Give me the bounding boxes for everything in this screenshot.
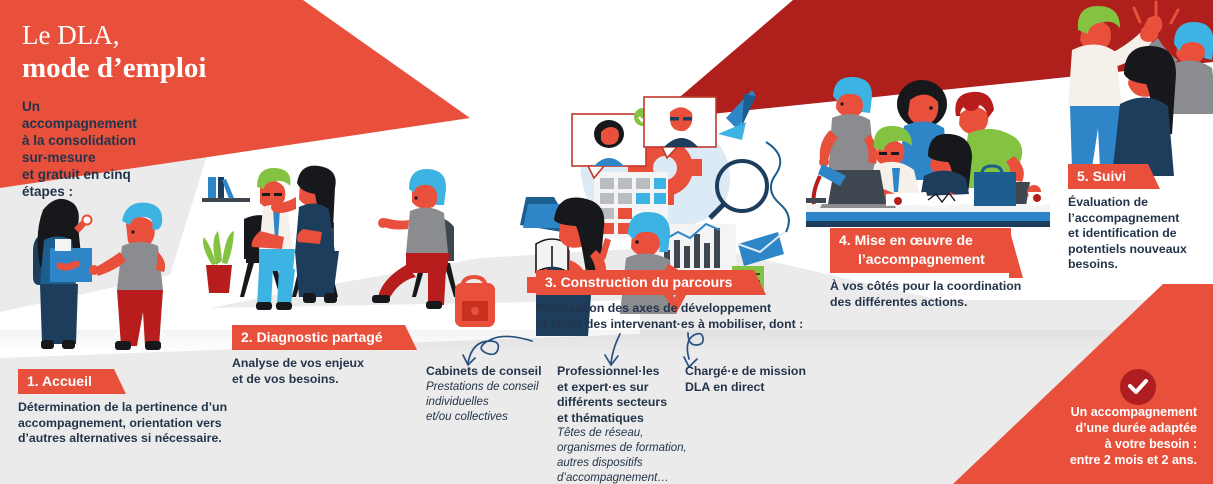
substep-1-italic-3: et/ou collectives bbox=[426, 410, 561, 425]
step-2-description: Analyse de vos enjeux et de vos besoins. bbox=[232, 356, 432, 387]
substep-2-heading-2: et expert·es sur bbox=[557, 380, 692, 396]
step-5: 5. Suivi Évaluation de l’accompagnement … bbox=[1068, 164, 1208, 273]
infographic-page: Le DLA, mode d’emploi Un accompagnement … bbox=[0, 0, 1213, 484]
substep-2-italic-3: autres dispositifs bbox=[557, 456, 692, 471]
illustration-step-1 bbox=[14, 190, 204, 370]
step-4-tag-line-2: l’accompagnement bbox=[839, 250, 985, 269]
step-1-desc-line-2: accompagnement, orientation vers bbox=[18, 416, 248, 432]
substep-1: Cabinets de conseil Prestations de conse… bbox=[426, 364, 561, 425]
subtitle-line-2: à la consolidation sur-mesure bbox=[22, 132, 157, 166]
step-2-desc-line-2: et de vos besoins. bbox=[232, 372, 432, 388]
step-4-tag-line-1: 4. Mise en œuvre de bbox=[839, 232, 973, 248]
step-4-desc-line-2: des différentes actions. bbox=[830, 295, 1060, 311]
substep-3-heading-2: DLA en direct bbox=[685, 380, 820, 396]
arrow-to-substep-2 bbox=[600, 333, 630, 367]
illustration-step-4 bbox=[800, 78, 1050, 238]
substeps-group: Cabinets de conseil Prestations de conse… bbox=[420, 364, 820, 484]
title-line-1: Le DLA, bbox=[22, 20, 206, 50]
step-5-desc-line-3: et identification de bbox=[1068, 226, 1208, 242]
arrow-to-substep-3 bbox=[682, 331, 716, 367]
substep-2: Professionnel·les et expert·es sur diffé… bbox=[557, 364, 692, 484]
step-1-desc-line-1: Détermination de la pertinence d’un bbox=[18, 400, 248, 416]
illustration-step-5 bbox=[1060, 0, 1213, 175]
subtitle-line-3: et gratuit en cinq étapes : bbox=[22, 166, 157, 200]
title-line-2: mode d’emploi bbox=[22, 51, 206, 85]
substep-2-heading-3: différents secteurs bbox=[557, 395, 692, 411]
check-circle-icon bbox=[1120, 369, 1156, 405]
step-4-desc-line-1: À vos côtés pour la coordination bbox=[830, 279, 1060, 295]
step-3-description: Priorisation des axes de développement e… bbox=[536, 301, 836, 332]
substep-2-heading-4: et thématiques bbox=[557, 411, 692, 427]
illustration-step-3 bbox=[520, 100, 820, 275]
step-5-desc-line-2: l’accompagnement bbox=[1068, 211, 1208, 227]
step-3-tag: 3. Construction du parcours bbox=[536, 270, 754, 295]
step-3-desc-line-1: Priorisation des axes de développement bbox=[536, 301, 836, 317]
step-5-desc-line-1: Évaluation de bbox=[1068, 195, 1208, 211]
corner-note-line-4: entre 2 mois et 2 ans. bbox=[1017, 452, 1197, 468]
header-subtitle: Un accompagnement à la consolidation sur… bbox=[22, 98, 157, 200]
substep-2-italic-2: organismes de formation, bbox=[557, 441, 692, 456]
step-4: 4. Mise en œuvre del’accompagnement À vo… bbox=[830, 228, 1060, 310]
step-5-desc-line-5: besoins. bbox=[1068, 257, 1208, 273]
substep-1-italic-1: Prestations de conseil bbox=[426, 380, 561, 395]
step-4-tag: 4. Mise en œuvre del’accompagnement bbox=[830, 228, 1011, 273]
step-5-desc-line-4: potentiels nouveaux bbox=[1068, 242, 1208, 258]
corner-note-line-3: à votre besoin : bbox=[1017, 436, 1197, 452]
corner-note-line-2: d’une durée adaptée bbox=[1017, 420, 1197, 436]
substep-1-heading: Cabinets de conseil bbox=[426, 364, 561, 380]
header-text-block: Le DLA, mode d’emploi Un accompagnement … bbox=[22, 20, 206, 85]
substep-2-heading-1: Professionnel·les bbox=[557, 364, 692, 380]
step-2-desc-line-1: Analyse de vos enjeux bbox=[232, 356, 432, 372]
step-1-tag: 1. Accueil bbox=[18, 369, 114, 394]
step-1: 1. Accueil Détermination de la pertinenc… bbox=[18, 369, 248, 447]
substep-3-heading-1: Chargé·e de mission bbox=[685, 364, 820, 380]
corner-note-line-1: Un accompagnement bbox=[1017, 404, 1197, 420]
step-1-desc-line-3: d’autres alternatives si nécessaire. bbox=[18, 431, 248, 447]
step-3: 3. Construction du parcours Priorisation… bbox=[536, 270, 836, 332]
step-1-description: Détermination de la pertinence d’un acco… bbox=[18, 400, 248, 447]
illustration-step-2 bbox=[200, 165, 500, 330]
substep-2-italic-1: Têtes de réseau, bbox=[557, 426, 692, 441]
step-5-description: Évaluation de l’accompagnement et identi… bbox=[1068, 195, 1208, 273]
substep-1-italic-2: individuelles bbox=[426, 395, 561, 410]
step-2-tag: 2. Diagnostic partagé bbox=[232, 325, 405, 350]
subtitle-line-1: Un accompagnement bbox=[22, 98, 157, 132]
step-4-description: À vos côtés pour la coordination des dif… bbox=[830, 279, 1060, 310]
arrow-to-substep-1 bbox=[460, 333, 550, 367]
step-2: 2. Diagnostic partagé Analyse de vos enj… bbox=[232, 325, 432, 387]
substep-2-italic-4: d’accompagnement… bbox=[557, 471, 692, 484]
step-5-tag: 5. Suivi bbox=[1068, 164, 1148, 189]
substep-3: Chargé·e de mission DLA en direct bbox=[685, 364, 820, 395]
step-3-desc-line-2: et choix des intervenant·es à mobiliser,… bbox=[536, 317, 836, 333]
corner-note: Un accompagnement d’une durée adaptée à … bbox=[1017, 404, 1197, 468]
